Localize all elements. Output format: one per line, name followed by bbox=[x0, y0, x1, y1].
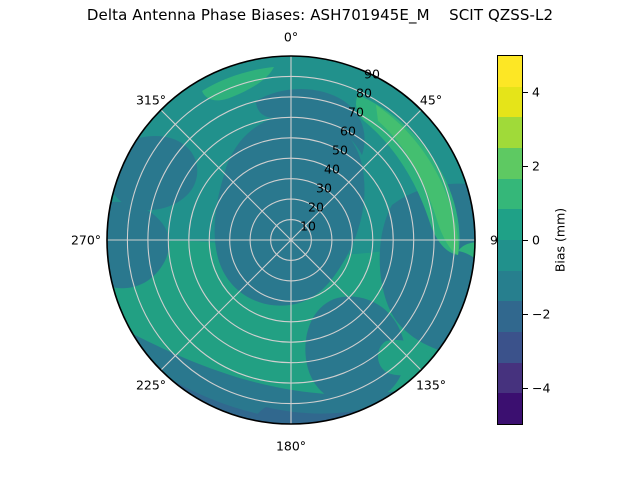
colorbar-tick-mark-4 bbox=[523, 92, 528, 93]
polar-plot-svg bbox=[106, 55, 476, 425]
r-tick-10: 10 bbox=[300, 219, 316, 234]
colorbar-band-7 bbox=[498, 271, 522, 302]
r-tick-30: 30 bbox=[316, 181, 332, 196]
r-tick-20: 20 bbox=[308, 200, 324, 215]
colorbar-tick-mark-2 bbox=[523, 166, 528, 167]
colorbar-tick-label-4: 4 bbox=[532, 85, 540, 100]
colorbar-tick-mark-n2 bbox=[523, 314, 528, 315]
colorbar-tick-label-n4: −4 bbox=[532, 381, 550, 396]
theta-tick-135: 135° bbox=[416, 378, 446, 393]
theta-tick-45: 45° bbox=[420, 93, 442, 108]
colorbar-band-9 bbox=[498, 332, 522, 363]
colorbar-tick-label-n2: −2 bbox=[532, 307, 550, 322]
polar-axes[interactable]: 0° 45° 90 135° 180° 225° 270° 315° 10 20… bbox=[106, 55, 476, 425]
r-tick-80: 80 bbox=[356, 86, 372, 101]
r-tick-40: 40 bbox=[324, 162, 340, 177]
colorbar-band-10 bbox=[498, 363, 522, 394]
theta-tick-225: 225° bbox=[136, 378, 166, 393]
r-tick-50: 50 bbox=[332, 143, 348, 158]
colorbar-tick-label-2: 2 bbox=[532, 159, 540, 174]
colorbar-tick-mark-0 bbox=[523, 240, 528, 241]
r-tick-90: 90 bbox=[364, 67, 380, 82]
colorbar-band-4 bbox=[498, 179, 522, 210]
theta-tick-270: 270° bbox=[71, 233, 101, 248]
colorbar-band-8 bbox=[498, 301, 522, 332]
colorbar-band-6 bbox=[498, 240, 522, 271]
polar-grid-spokes bbox=[107, 56, 475, 424]
colorbar-band-1 bbox=[498, 87, 522, 118]
colorbar-band-2 bbox=[498, 117, 522, 148]
r-tick-70: 70 bbox=[348, 105, 364, 120]
colorbar[interactable]: 4 2 0 −2 −4 bbox=[497, 55, 523, 425]
theta-tick-180: 180° bbox=[276, 439, 306, 454]
colorbar-tick-mark-n4 bbox=[523, 388, 528, 389]
colorbar-tick-label-0: 0 bbox=[532, 233, 540, 248]
colorbar-axis-label: Bias (mm) bbox=[553, 208, 568, 272]
colorbar-gradient-strip bbox=[497, 55, 523, 425]
theta-tick-315: 315° bbox=[136, 93, 166, 108]
colorbar-band-0 bbox=[498, 56, 522, 87]
page-title: Delta Antenna Phase Biases: ASH701945E_M… bbox=[0, 6, 640, 24]
theta-tick-0: 0° bbox=[284, 30, 298, 45]
colorbar-band-3 bbox=[498, 148, 522, 179]
colorbar-band-5 bbox=[498, 209, 522, 240]
colorbar-band-11 bbox=[498, 393, 522, 424]
figure-canvas: Delta Antenna Phase Biases: ASH701945E_M… bbox=[0, 0, 640, 480]
r-tick-60: 60 bbox=[340, 124, 356, 139]
